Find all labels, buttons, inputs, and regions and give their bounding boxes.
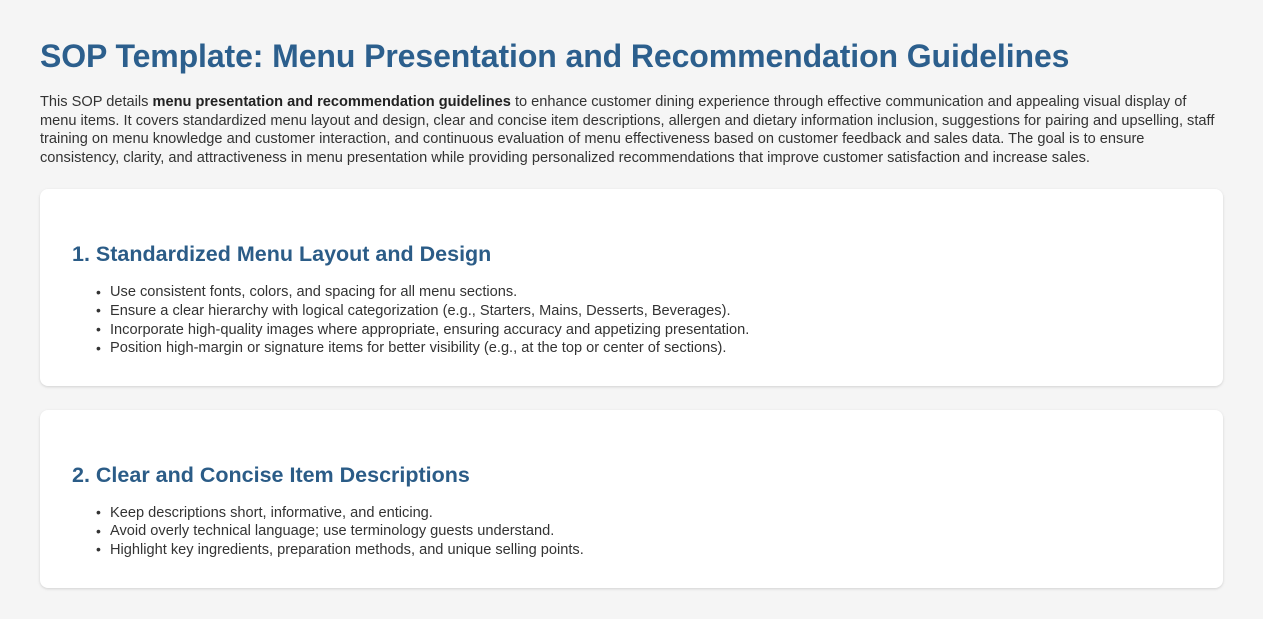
list-item: Ensure a clear hierarchy with logical ca… (96, 302, 1193, 321)
section-bullet-list-1: Use consistent fonts, colors, and spacin… (70, 267, 1193, 357)
list-item: Incorporate high-quality images where ap… (96, 321, 1193, 340)
intro-lead-text: This SOP details (40, 94, 152, 110)
list-item: Position high-margin or signature items … (96, 339, 1193, 358)
section-card-2: 2. Clear and Concise Item Descriptions K… (40, 410, 1223, 588)
section-heading-1: 1. Standardized Menu Layout and Design (70, 219, 1193, 267)
section-heading-2: 2. Clear and Concise Item Descriptions (70, 440, 1193, 488)
document-page: SOP Template: Menu Presentation and Reco… (0, 0, 1263, 619)
intro-paragraph: This SOP details menu presentation and r… (40, 78, 1223, 167)
list-item: Use consistent fonts, colors, and spacin… (96, 283, 1193, 302)
section-card-1: 1. Standardized Menu Layout and Design U… (40, 189, 1223, 385)
list-item: Highlight key ingredients, preparation m… (96, 541, 1193, 560)
page-title: SOP Template: Menu Presentation and Reco… (40, 0, 1223, 78)
list-item: Avoid overly technical language; use ter… (96, 522, 1193, 541)
list-item: Keep descriptions short, informative, an… (96, 504, 1193, 523)
intro-emphasis-text: menu presentation and recommendation gui… (152, 94, 510, 110)
section-bullet-list-2: Keep descriptions short, informative, an… (70, 488, 1193, 560)
